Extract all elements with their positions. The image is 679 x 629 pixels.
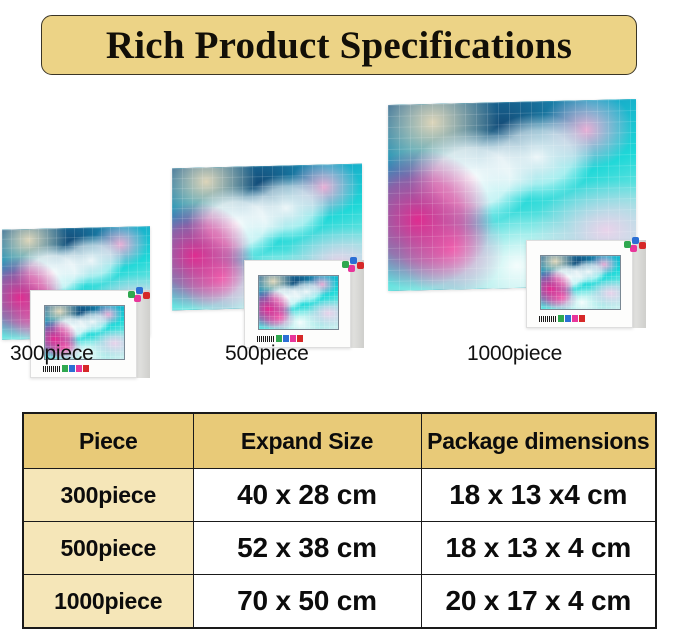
box-cover-artwork [540,255,621,310]
column-header-package: Package dimensions [421,413,656,469]
page-title: Rich Product Specifications [106,26,572,65]
box-front-face [244,260,351,348]
puzzle-pieces-decor-icon [624,237,650,257]
size-label-1000piece: 1000piece [467,342,562,366]
box-branding-strip [539,315,585,322]
cell-piece: 500piece [23,522,193,575]
table-row: 1000piece 70 x 50 cm 20 x 17 x 4 cm [23,575,656,629]
box-branding-strip [257,335,303,342]
table-row: 300piece 40 x 28 cm 18 x 13 x4 cm [23,469,656,522]
column-header-piece: Piece [23,413,193,469]
cell-piece: 1000piece [23,575,193,629]
barcode-icon [43,366,60,372]
cell-expand-size: 40 x 28 cm [193,469,421,522]
puzzle-pieces-decor-icon [128,287,154,307]
brand-logo-icon [62,365,89,372]
product-box-500piece [244,260,364,348]
column-header-expand-size: Expand Size [193,413,421,469]
cell-package-dimensions: 18 x 13 x4 cm [421,469,656,522]
cell-package-dimensions: 18 x 13 x 4 cm [421,522,656,575]
size-label-500piece: 500piece [225,342,309,366]
product-box-1000piece [526,240,646,328]
box-branding-strip [43,365,89,372]
cell-piece: 300piece [23,469,193,522]
cell-expand-size: 70 x 50 cm [193,575,421,629]
box-cover-grid [541,256,620,309]
table-row: 500piece 52 x 38 cm 18 x 13 x 4 cm [23,522,656,575]
specifications-table: Piece Expand Size Package dimensions 300… [22,412,657,629]
brand-logo-icon [558,315,585,322]
size-label-300piece: 300piece [10,342,94,366]
cell-expand-size: 52 x 38 cm [193,522,421,575]
box-cover-grid [259,276,338,329]
puzzle-pieces-decor-icon [342,257,368,277]
cell-package-dimensions: 20 x 17 x 4 cm [421,575,656,629]
box-front-face [526,240,633,328]
page-title-banner: Rich Product Specifications [41,15,637,75]
barcode-icon [257,336,274,342]
product-group-1000piece [388,128,646,378]
product-showcase [0,88,679,378]
box-cover-artwork [258,275,339,330]
barcode-icon [539,316,556,322]
brand-logo-icon [276,335,303,342]
table-header-row: Piece Expand Size Package dimensions [23,413,656,469]
